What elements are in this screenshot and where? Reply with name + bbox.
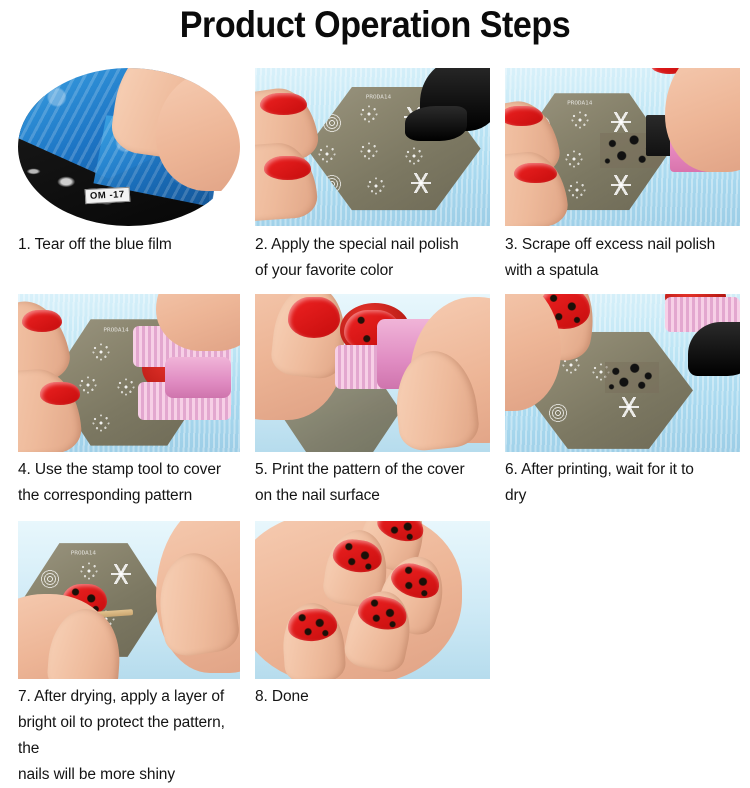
step-8-photo-done-finished-nails <box>255 521 490 679</box>
steps-row-1: OM -17 1. Tear off the blue film PRODA14 <box>0 68 750 284</box>
page-title: Product Operation Steps <box>30 4 720 46</box>
plate-code-label: OM -17 <box>84 187 129 204</box>
step-6-caption: 6. After printing, wait for it to dry <box>505 457 740 509</box>
step-7-caption: 7. After drying, apply a layer of bright… <box>18 684 240 788</box>
step-6-photo-wait-to-dry <box>505 294 740 452</box>
step-4-photo-stamp-tool-cover: PRODA14 <box>18 294 240 452</box>
step-item-3: PRODA14 <box>500 68 750 284</box>
step-item-1: OM -17 1. Tear off the blue film <box>0 68 250 284</box>
steps-row-3: PRODA14 7. Aft <box>0 521 750 788</box>
step-1-photo-tear-blue-film: OM -17 <box>18 68 240 226</box>
step-item-8: 8. Done <box>250 521 500 788</box>
step-8-caption: 8. Done <box>255 684 490 710</box>
step-1-caption: 1. Tear off the blue film <box>18 232 240 258</box>
step-item-2: PRODA14 <box>250 68 500 284</box>
step-item-4: PRODA14 <box>0 294 250 509</box>
step-7-photo-apply-bright-oil: PRODA14 <box>18 521 240 679</box>
step-5-caption: 5. Print the pattern of the cover on the… <box>255 457 490 509</box>
step-2-caption: 2. Apply the special nail polish of your… <box>255 232 490 284</box>
step-item-6: 6. After printing, wait for it to dry <box>500 294 750 509</box>
step-4-caption: 4. Use the stamp tool to cover the corre… <box>18 457 240 509</box>
step-5-photo-print-pattern-on-nail <box>255 294 490 452</box>
steps-grid: OM -17 1. Tear off the blue film PRODA14 <box>0 68 750 788</box>
step-3-caption: 3. Scrape off excess nail polish with a … <box>505 232 740 284</box>
step-item-7: PRODA14 7. Aft <box>0 521 250 788</box>
steps-row-2: PRODA14 <box>0 294 750 509</box>
step-2-photo-apply-nail-polish: PRODA14 <box>255 68 490 226</box>
steps-row-3-empty-cell <box>500 521 750 788</box>
step-3-photo-scrape-excess-polish: PRODA14 <box>505 68 740 226</box>
step-item-5: 5. Print the pattern of the cover on the… <box>250 294 500 509</box>
